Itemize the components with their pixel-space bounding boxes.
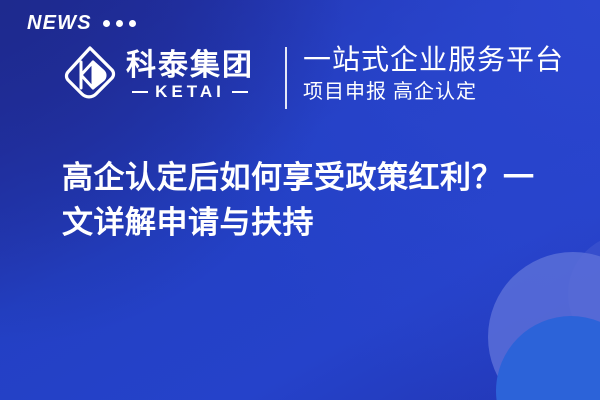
news-dot-icon [116, 20, 123, 27]
brand-name-en-row: KETAI [126, 83, 254, 100]
news-label: NEWS [27, 13, 92, 33]
page-title-line-1: 高企认定后如何享受政策红利？一 [62, 156, 562, 201]
news-dots-icon [103, 20, 136, 27]
news-dot-icon [129, 20, 136, 27]
news-banner: NEWS 科泰集团 KETAI [0, 0, 600, 400]
brand-name-en: KETAI [155, 83, 225, 100]
ketai-diamond-monogram-icon [62, 44, 118, 106]
brand-rule-right-icon [232, 91, 248, 93]
slogan-sub: 项目申报 高企认定 [303, 80, 564, 104]
slogan-block: 一站式企业服务平台 项目申报 高企认定 [303, 44, 564, 104]
brand-name-cn: 科泰集团 [126, 50, 254, 82]
page-title-line-2: 文详解申请与扶持 [62, 201, 562, 246]
brand-lockup: 科泰集团 KETAI [62, 44, 254, 106]
news-dot-icon [103, 20, 110, 27]
brand-rule-left-icon [132, 91, 148, 93]
news-kicker: NEWS [27, 13, 136, 33]
brand-wordmark: 科泰集团 KETAI [126, 50, 254, 101]
brand-divider [285, 47, 287, 109]
slogan-main: 一站式企业服务平台 [303, 44, 564, 75]
page-title: 高企认定后如何享受政策红利？一 文详解申请与扶持 [62, 156, 562, 246]
